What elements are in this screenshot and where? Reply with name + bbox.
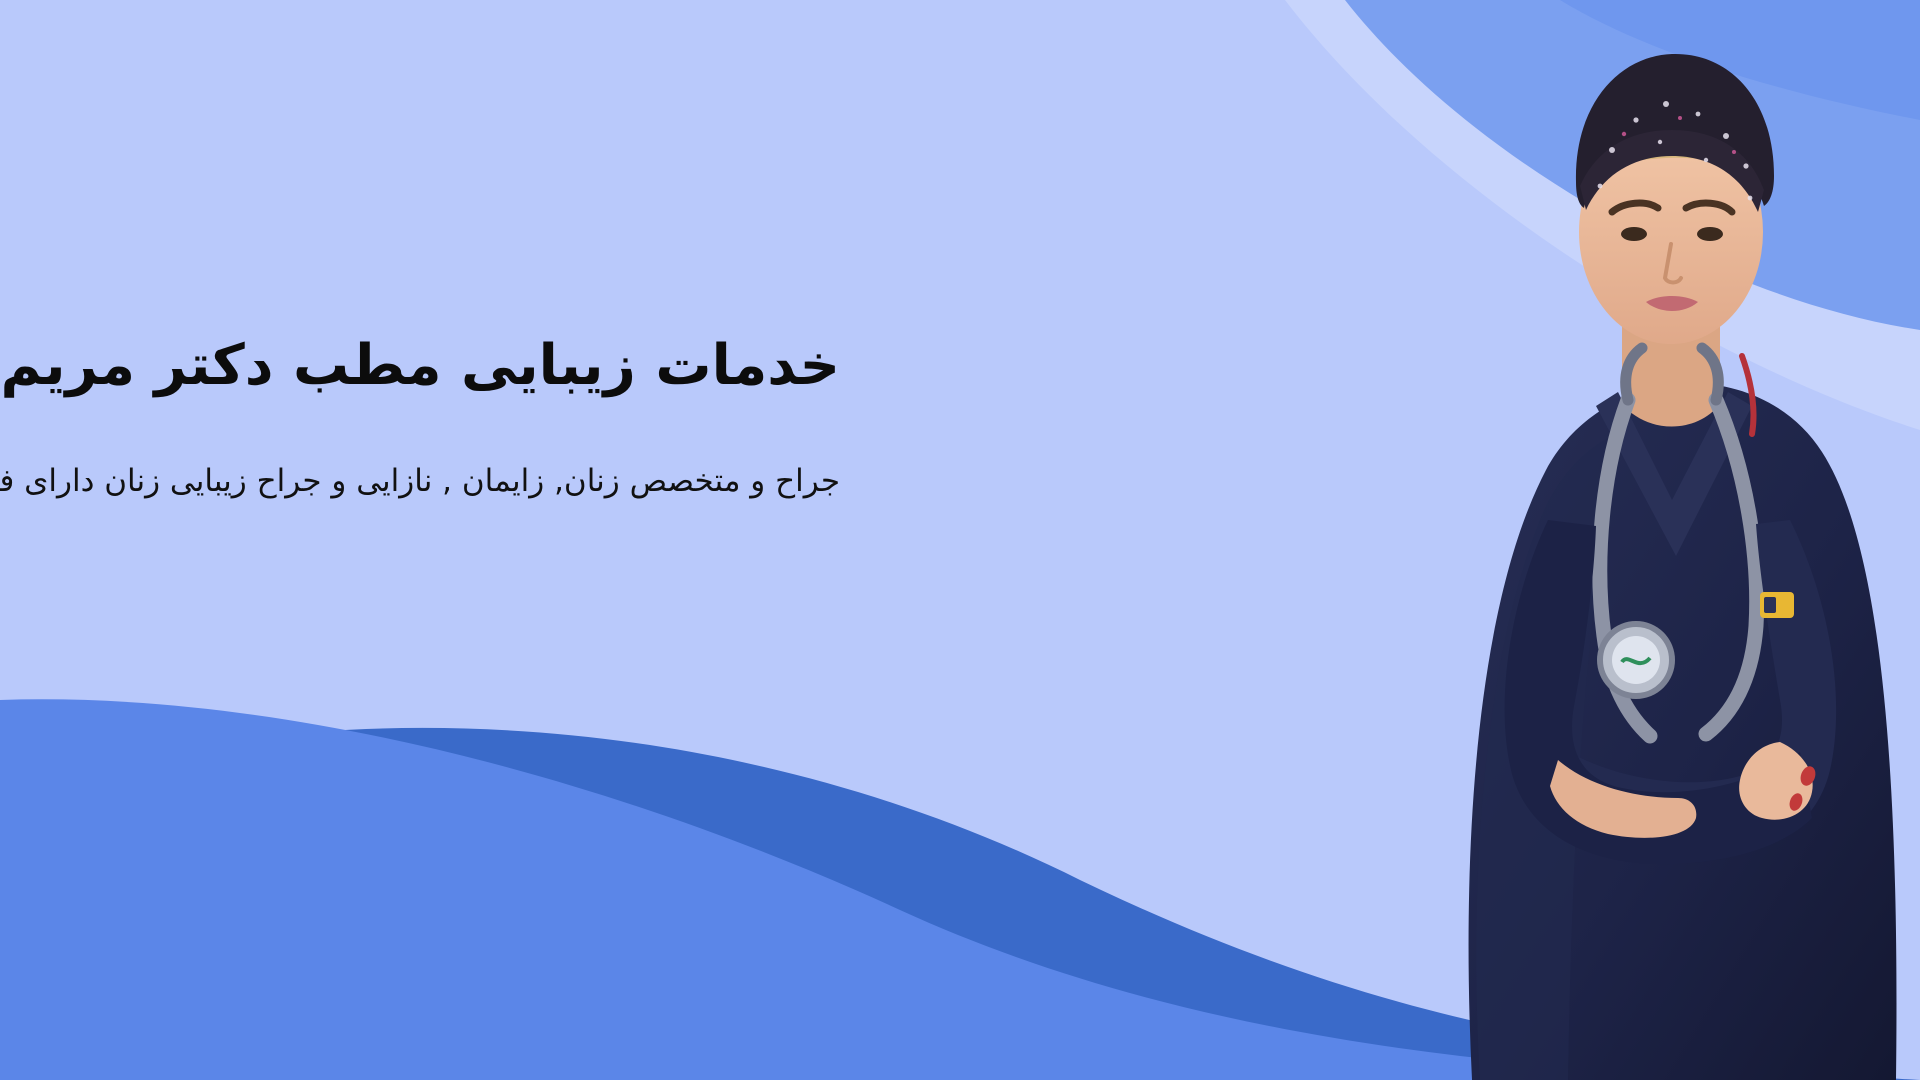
page-title: خدمات زیبایی مطب دکتر مریم روانبد شیرازی: [60, 330, 840, 402]
hero-subtitle: جراح و متخصص زنان, زایمان , نازایی و جرا…: [60, 458, 840, 505]
blue-wave-background: [0, 0, 1920, 1080]
hero-banner: خدمات زیبایی مطب دکتر مریم روانبد شیرازی…: [0, 0, 1920, 1080]
hero-copy-block: خدمات زیبایی مطب دکتر مریم روانبد شیرازی…: [60, 330, 840, 504]
